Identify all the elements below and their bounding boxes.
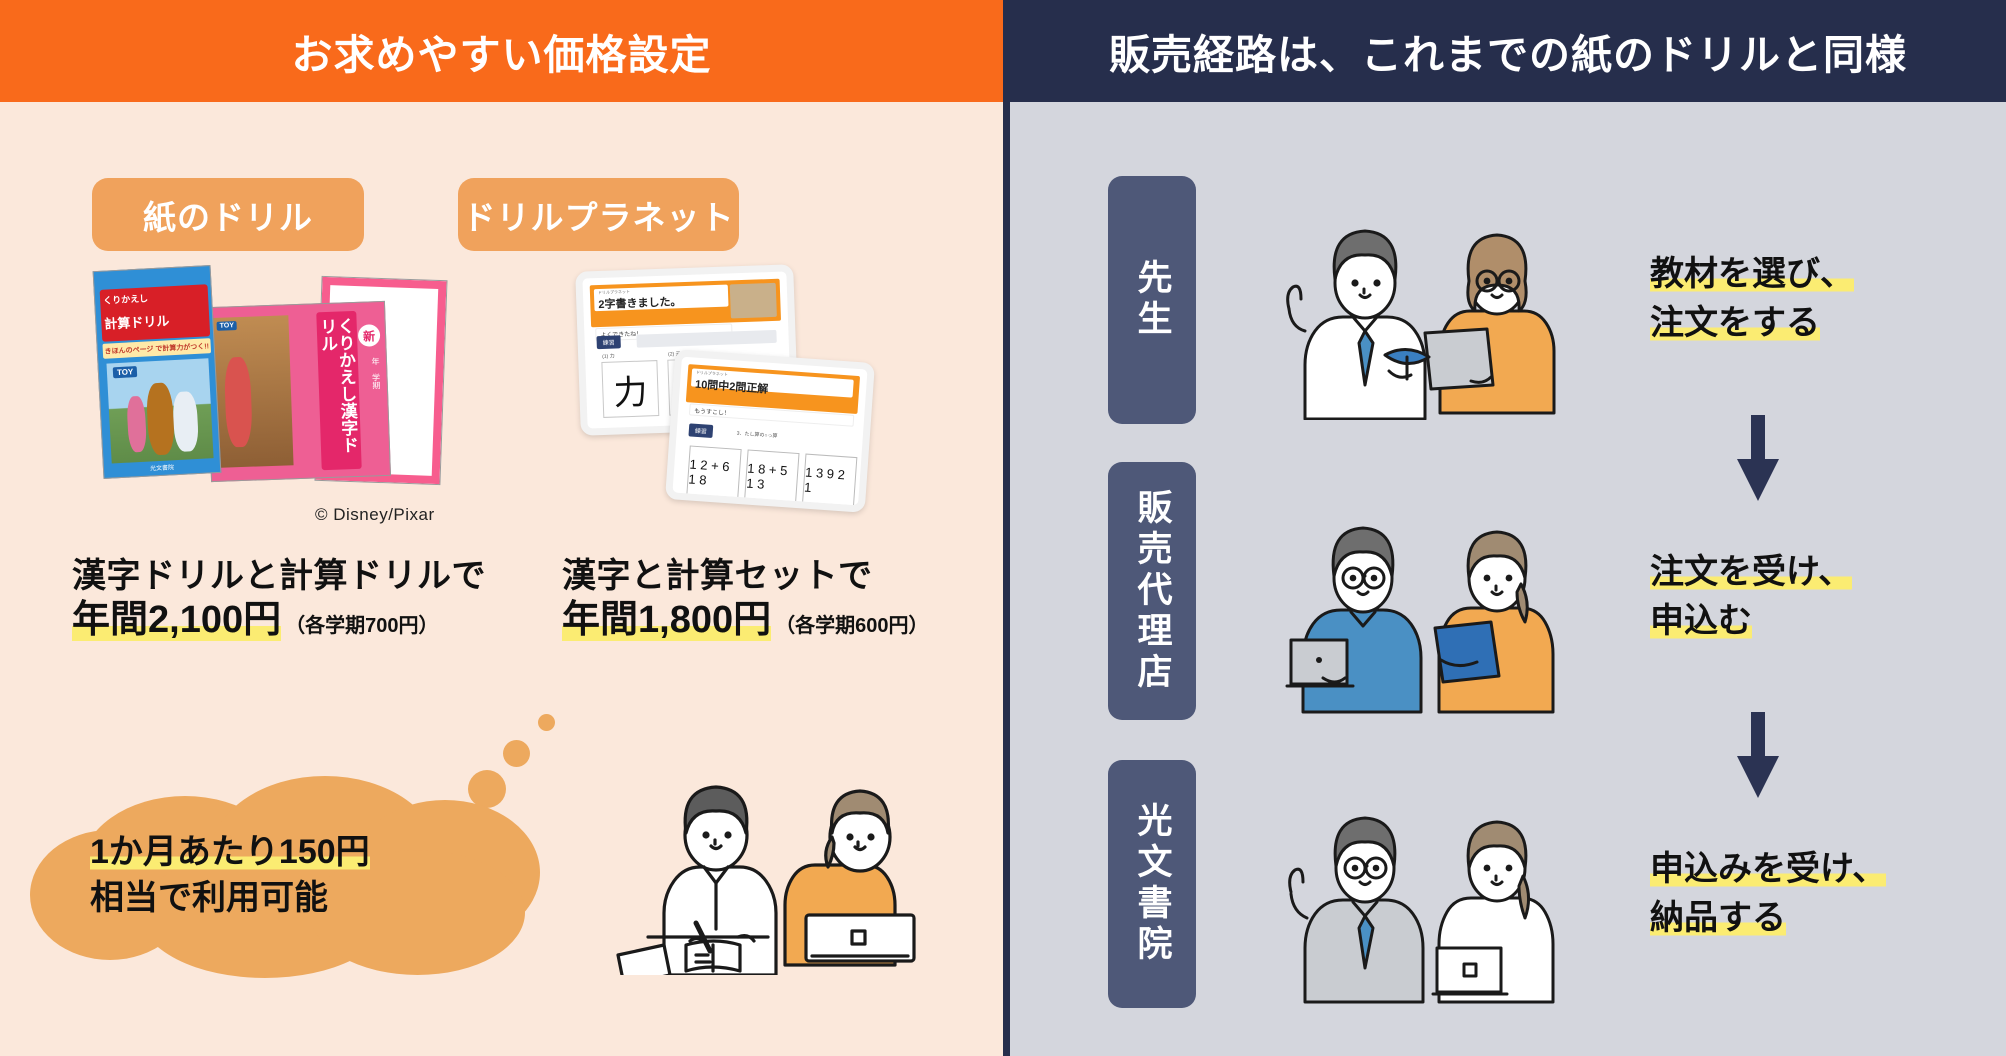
tablet-b-tag-detail: 3．たし算の○っ算 <box>737 430 778 440</box>
illustration-teachers <box>1285 205 1585 420</box>
tablet-b-problem-1: 1 2 + 6 1 8 <box>686 445 742 501</box>
thought-bubble-dot <box>538 714 555 731</box>
price-drill-planet: 漢字と計算セットで 年間1,800円 （各学期600円） <box>562 555 928 643</box>
toy-story-tag: TOY <box>113 366 138 378</box>
action-text-deliver: 申込みを受け、 納品する <box>1650 845 1886 944</box>
tablet-b-problem-2: 1 8 + 5 1 3 <box>744 449 800 505</box>
role-chip-publisher: 光文書院 <box>1108 760 1196 1008</box>
pill-drill-planet-label: ドリルプラネット <box>463 191 735 239</box>
price-planet-amount: 年間1,800円 <box>562 598 771 644</box>
infographic-root: お求めやすい価格設定 紙のドリル ドリルプラネット TOY くりかえし漢字ドリル… <box>0 0 2006 1056</box>
price-paper-line1: 漢字ドリルと計算ドリルで <box>72 555 486 598</box>
drill-planet-tablets: ドリルプラネット 2字書きました。 よくできたね！ 練習 (1) 力 (2) 元… <box>560 268 860 518</box>
character-figure <box>146 382 176 455</box>
tablet-a-cell-1-label: (1) 力 <box>602 353 615 360</box>
action-3-line2: 納品する <box>1650 899 1786 937</box>
role-chip-teacher-label: 先生 <box>1127 259 1178 341</box>
price-paper-sub: （各学期700円） <box>285 614 438 638</box>
bubble-line2: 相当で利用可能 <box>90 879 328 917</box>
role-chip-teacher: 先生 <box>1108 176 1196 424</box>
math-book-title-line2: 計算ドリル <box>104 310 170 332</box>
left-panel: お求めやすい価格設定 紙のドリル ドリルプラネット TOY くりかえし漢字ドリル… <box>0 0 1003 1056</box>
role-chip-publisher-label: 光文書院 <box>1127 802 1178 966</box>
action-text-order: 教材を選び、 注文をする <box>1650 250 1854 349</box>
bubble-line1: 1か月あたり150円 <box>90 833 370 871</box>
price-planet-sub: （各学期600円） <box>775 614 928 638</box>
action-2-line2: 申込む <box>1650 602 1752 640</box>
action-1-line1: 教材を選び、 <box>1650 255 1854 293</box>
character-figure <box>172 391 199 452</box>
pill-drill-planet: ドリルプラネット <box>458 178 739 251</box>
kanji-book-grade-label: 年 学期 <box>363 357 382 390</box>
down-arrow-icon <box>1735 415 1781 503</box>
illustration-students <box>610 745 920 975</box>
tablet-screenshot-math: ドリルプラネット 10問中2問正解 もうすこし！ 練習 3．たし算の○っ算 1 … <box>665 349 875 513</box>
toy-story-tag: TOY <box>217 321 238 331</box>
tablet-a-cell-1: 力 <box>601 360 659 418</box>
character-figure <box>126 396 147 453</box>
role-chip-sales-agency: 販売代理店 <box>1108 462 1196 720</box>
down-arrow-icon <box>1735 712 1781 800</box>
right-panel-header: 販売経路は、これまでの紙のドリルと同様 <box>1010 0 2006 102</box>
left-panel-header: お求めやすい価格設定 <box>0 0 1003 102</box>
character-figure <box>224 357 253 448</box>
math-book-subtitle: きほんのページ で計算力がつく!! <box>102 338 211 359</box>
action-1-line2: 注文をする <box>1650 304 1820 342</box>
tablet-a-character-art <box>730 283 777 319</box>
tablet-b-problem-3: 1 3 9 2 1 <box>802 454 858 510</box>
math-book-title-line1: くりかえし <box>103 291 149 306</box>
price-planet-line1: 漢字と計算セットで <box>562 555 928 598</box>
thought-bubble-dot <box>503 740 530 767</box>
tablet-b-tag: 練習 <box>688 423 713 438</box>
action-3-line1: 申込みを受け、 <box>1650 850 1886 888</box>
tablet-a-headline: 2字書きました。 <box>598 293 682 312</box>
price-paper-drill: 漢字ドリルと計算ドリルで 年間2,100円 （各学期700円） <box>72 555 486 643</box>
action-2-line1: 注文を受け、 <box>1650 553 1852 591</box>
pill-paper-drill-label: 紙のドリル <box>143 191 313 239</box>
kanji-book-title: くりかえし漢字ドリル <box>320 317 357 464</box>
book-cover-math-drill: くりかえし 計算ドリル きほんのページ で計算力がつく!! TOY 光文書院 <box>93 265 222 479</box>
tablet-a-tag: 練習 <box>596 335 620 349</box>
role-chip-sales-agency-label: 販売代理店 <box>1127 489 1178 694</box>
thought-bubble: 1か月あたり150円 相当で利用可能 <box>20 700 600 970</box>
price-paper-amount: 年間2,100円 <box>72 598 281 644</box>
thought-bubble-dot <box>468 770 506 808</box>
illustration-publisher-staff <box>1285 790 1585 1005</box>
illustration-agency-staff <box>1285 500 1585 715</box>
tablet-a-cell-1-glyph: 力 <box>602 361 658 417</box>
action-text-receive-order: 注文を受け、 申込む <box>1650 548 1852 647</box>
paper-drill-books: TOY くりかえし漢字ドリル 新 年 学期 くりかえし 計算ドリル きほんのペー… <box>86 268 506 503</box>
kanji-book-new-badge: 新 <box>358 324 381 347</box>
copyright-notice: © Disney/Pixar <box>315 505 435 525</box>
book-cover-kanji-drill: TOY くりかえし漢字ドリル 新 年 学期 <box>205 301 391 482</box>
pill-paper-drill: 紙のドリル <box>92 178 364 251</box>
